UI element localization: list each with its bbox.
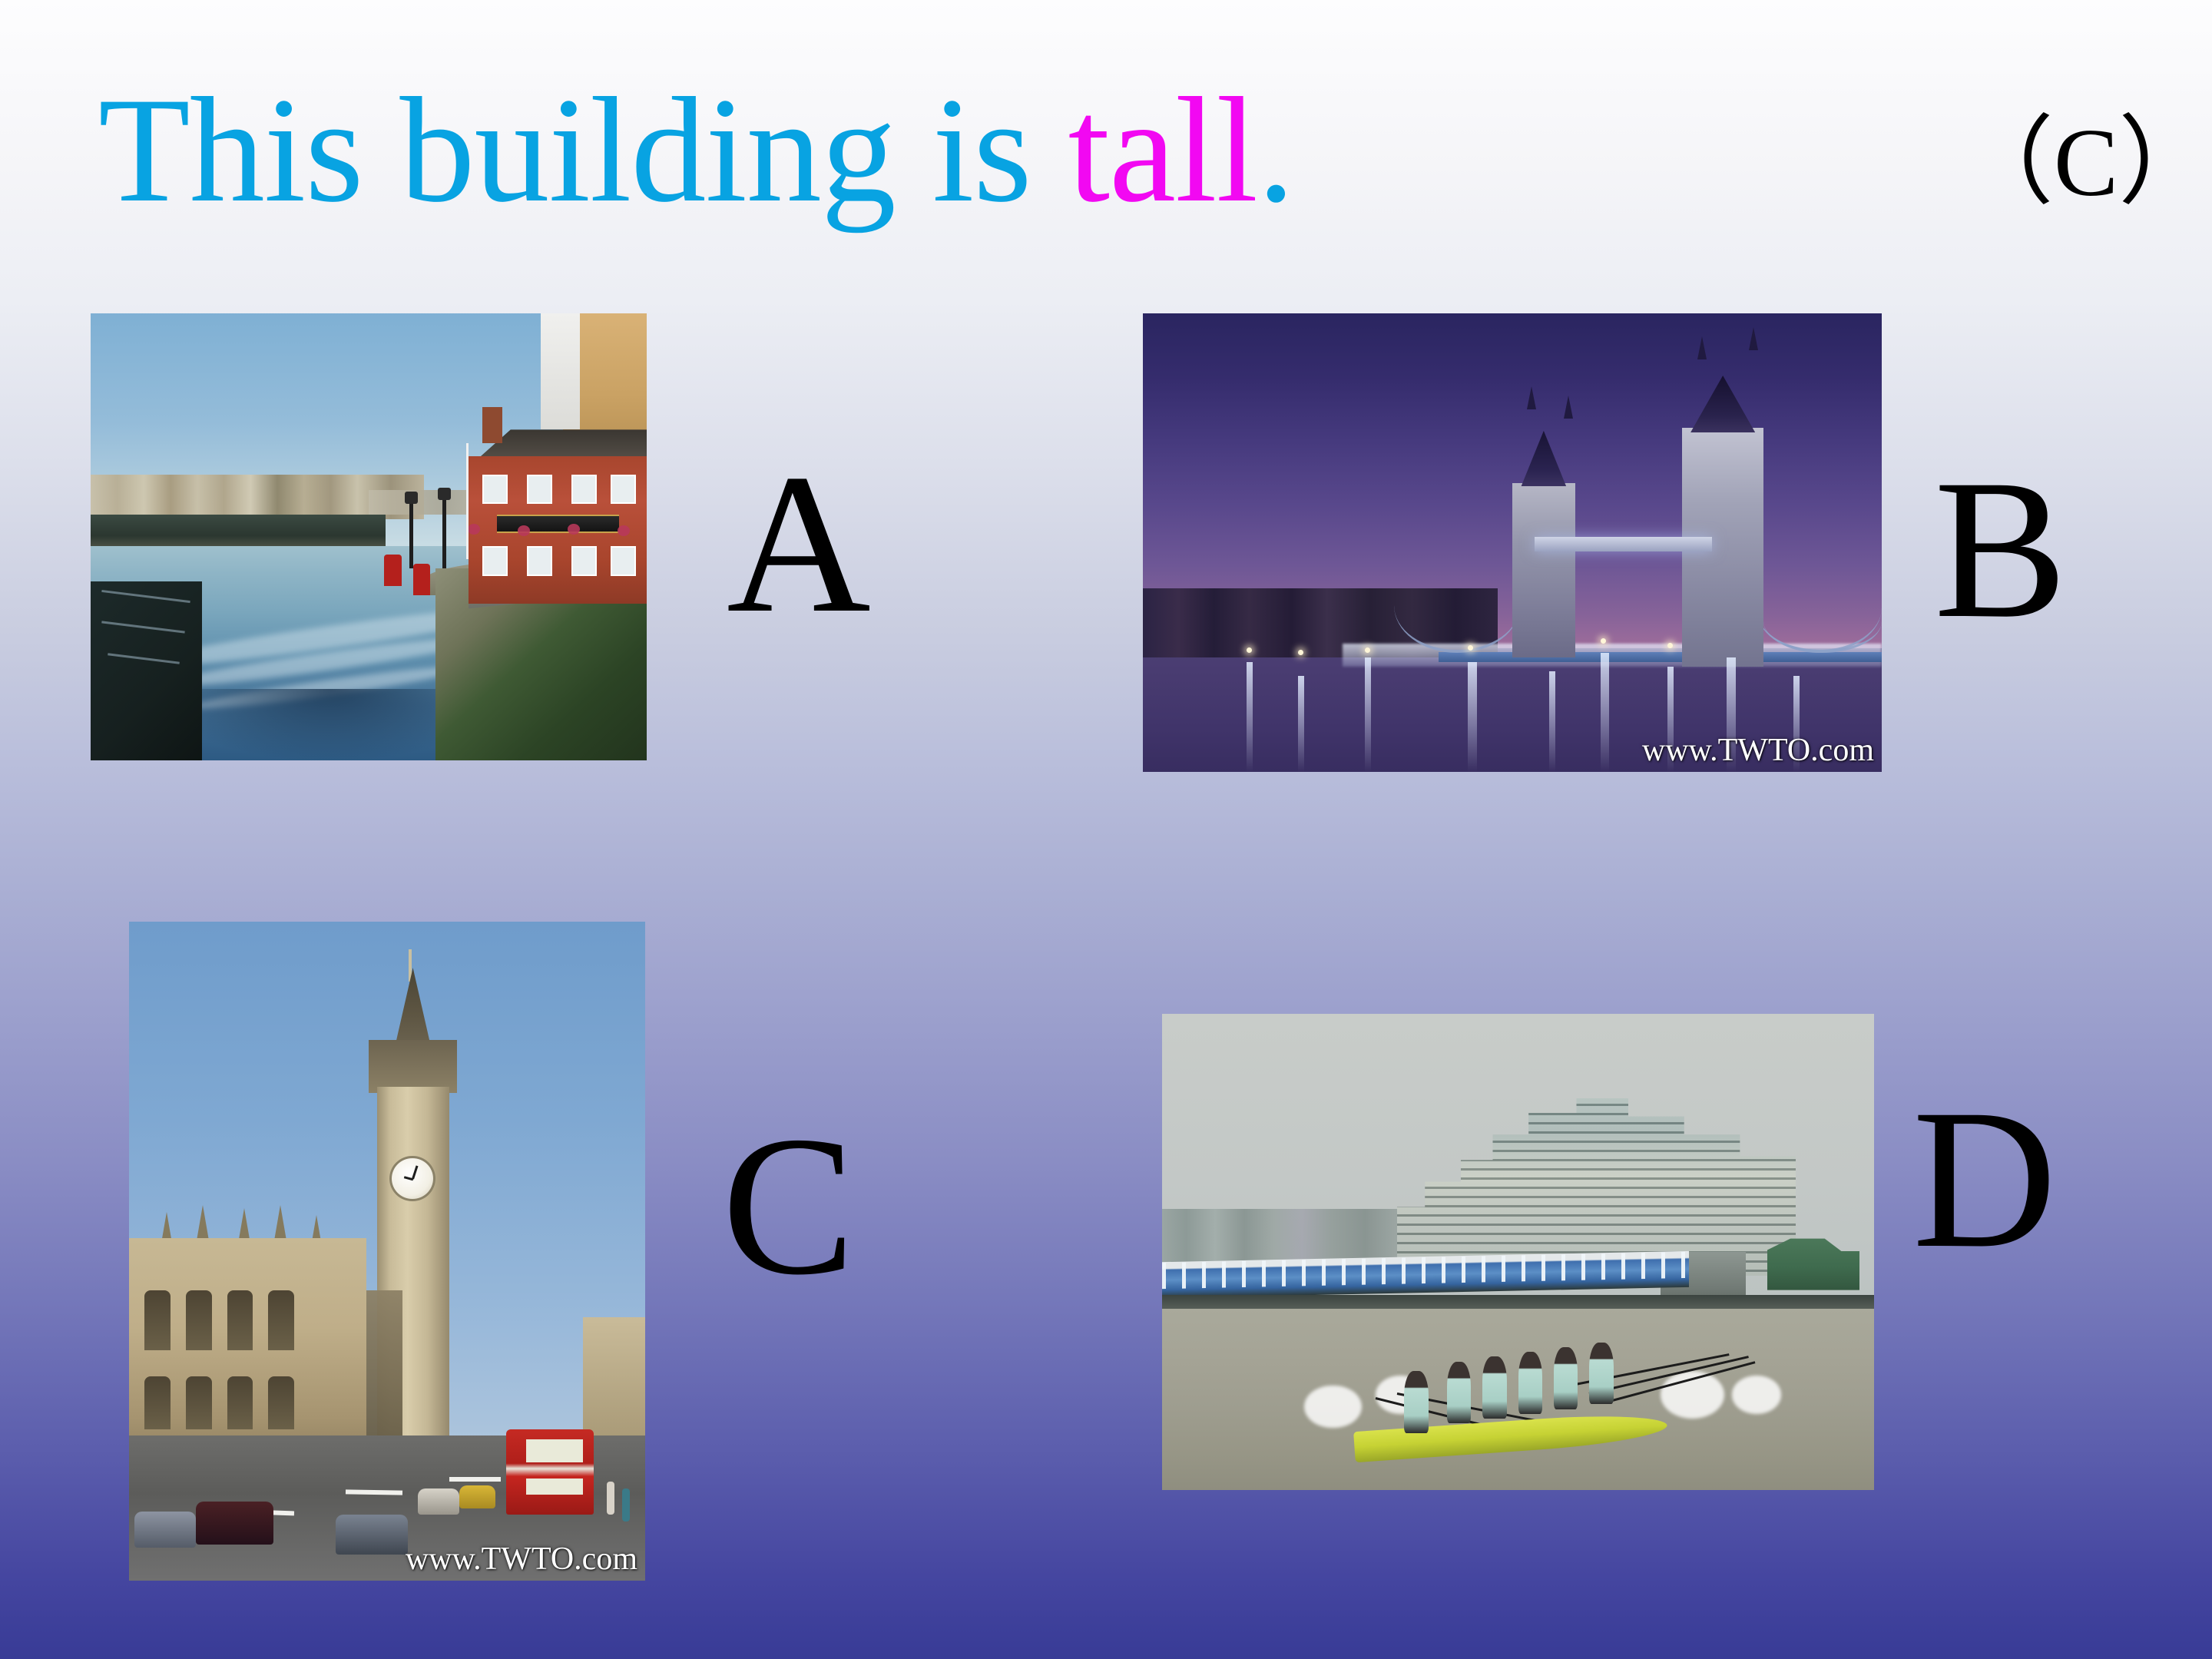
white-building xyxy=(541,313,580,429)
car xyxy=(336,1515,408,1554)
option-a-photo[interactable] xyxy=(91,313,647,760)
water-reflection xyxy=(1247,662,1253,772)
pub-sign xyxy=(497,515,619,533)
rower xyxy=(1518,1352,1543,1414)
water-reflection xyxy=(1468,662,1477,772)
city-light xyxy=(1247,647,1252,653)
pub-window xyxy=(527,546,552,576)
black-cab xyxy=(196,1502,273,1545)
pub-window xyxy=(527,475,552,505)
water-layer xyxy=(1143,648,1882,772)
gothic-window xyxy=(186,1376,212,1429)
bridge-roadway xyxy=(1439,652,1882,662)
car xyxy=(134,1512,197,1548)
option-b-letter: B xyxy=(1934,449,2067,649)
pub-window xyxy=(611,475,636,505)
road-marking xyxy=(449,1477,501,1482)
pub-window xyxy=(482,475,508,505)
city-light xyxy=(1298,650,1303,655)
option-c-photo[interactable]: www.TWTO.com xyxy=(129,922,645,1581)
gothic-window xyxy=(227,1290,253,1349)
clock-face xyxy=(389,1156,435,1201)
option-a-letter: A xyxy=(727,444,871,644)
option-c-letter: C xyxy=(722,1106,855,1306)
answer-marker: （C） xyxy=(1957,115,2212,212)
option-d-letter: D xyxy=(1912,1079,2057,1279)
photo-b-scene: www.TWTO.com xyxy=(1143,313,1882,772)
street-lamp xyxy=(409,501,413,568)
red-post-box xyxy=(413,564,430,595)
gothic-window xyxy=(144,1290,171,1349)
gothic-window xyxy=(268,1376,294,1429)
city-light xyxy=(1667,643,1673,648)
bus-window xyxy=(526,1439,583,1462)
slide-canvas: This building is tall. （C） xyxy=(0,0,2212,1659)
water-reflection xyxy=(1667,667,1674,772)
left-quay-wall xyxy=(91,515,386,551)
hanging-basket xyxy=(468,524,480,535)
water-reflection xyxy=(1298,676,1304,772)
red-post-box xyxy=(384,555,402,586)
yellow-van xyxy=(459,1485,495,1508)
pedestrian xyxy=(622,1488,630,1522)
oar-splash xyxy=(1304,1386,1361,1429)
oar-splash xyxy=(1732,1376,1782,1414)
bus-window xyxy=(526,1479,583,1495)
rower xyxy=(1554,1347,1578,1409)
water-reflection xyxy=(1793,676,1800,772)
big-ben-belfry xyxy=(369,1040,456,1093)
water-reflection xyxy=(1549,671,1555,772)
rower xyxy=(1482,1356,1507,1419)
flag-mast xyxy=(466,443,469,559)
option-d-photo[interactable] xyxy=(1162,1014,1874,1490)
title-prefix-text: This building is xyxy=(98,67,1068,233)
title-row: This building is tall. （C） xyxy=(0,52,2212,244)
tower-spire xyxy=(1527,386,1536,409)
option-b-photo[interactable]: www.TWTO.com xyxy=(1143,313,1882,772)
pub-window xyxy=(482,546,508,576)
chimney xyxy=(482,407,502,443)
cox xyxy=(1404,1371,1429,1433)
photo-d-scene xyxy=(1162,1014,1874,1490)
rower xyxy=(1447,1362,1472,1424)
suspension-cable xyxy=(1763,590,1882,653)
hanging-basket xyxy=(568,524,580,535)
title-period-text: . xyxy=(1257,67,1294,233)
gothic-window xyxy=(144,1376,171,1429)
water-reflection xyxy=(1365,657,1371,772)
tower-spire xyxy=(1697,336,1707,359)
page-title: This building is tall. xyxy=(98,75,1294,226)
gothic-window xyxy=(186,1290,212,1349)
water-reflection xyxy=(1601,653,1609,772)
gothic-window xyxy=(268,1290,294,1349)
pedestrian xyxy=(607,1482,614,1515)
city-light xyxy=(1365,647,1370,653)
water-reflection xyxy=(1727,657,1736,772)
pub-window xyxy=(571,546,597,576)
photo-c-scene: www.TWTO.com xyxy=(129,922,645,1581)
left-pier xyxy=(91,581,202,760)
gothic-window xyxy=(227,1376,253,1429)
street-lamp xyxy=(442,497,446,568)
photo-a-scene xyxy=(91,313,647,760)
bridge-walkway xyxy=(1535,537,1712,551)
title-highlight-text: tall xyxy=(1068,67,1257,233)
tower-spire xyxy=(1564,396,1573,419)
pub-window xyxy=(571,475,597,505)
bridge-tower-near xyxy=(1512,483,1575,657)
tower-spire xyxy=(1749,327,1758,350)
pub-window xyxy=(611,546,636,576)
rower xyxy=(1589,1343,1614,1405)
car xyxy=(418,1488,459,1515)
suspension-cable xyxy=(1394,558,1520,652)
